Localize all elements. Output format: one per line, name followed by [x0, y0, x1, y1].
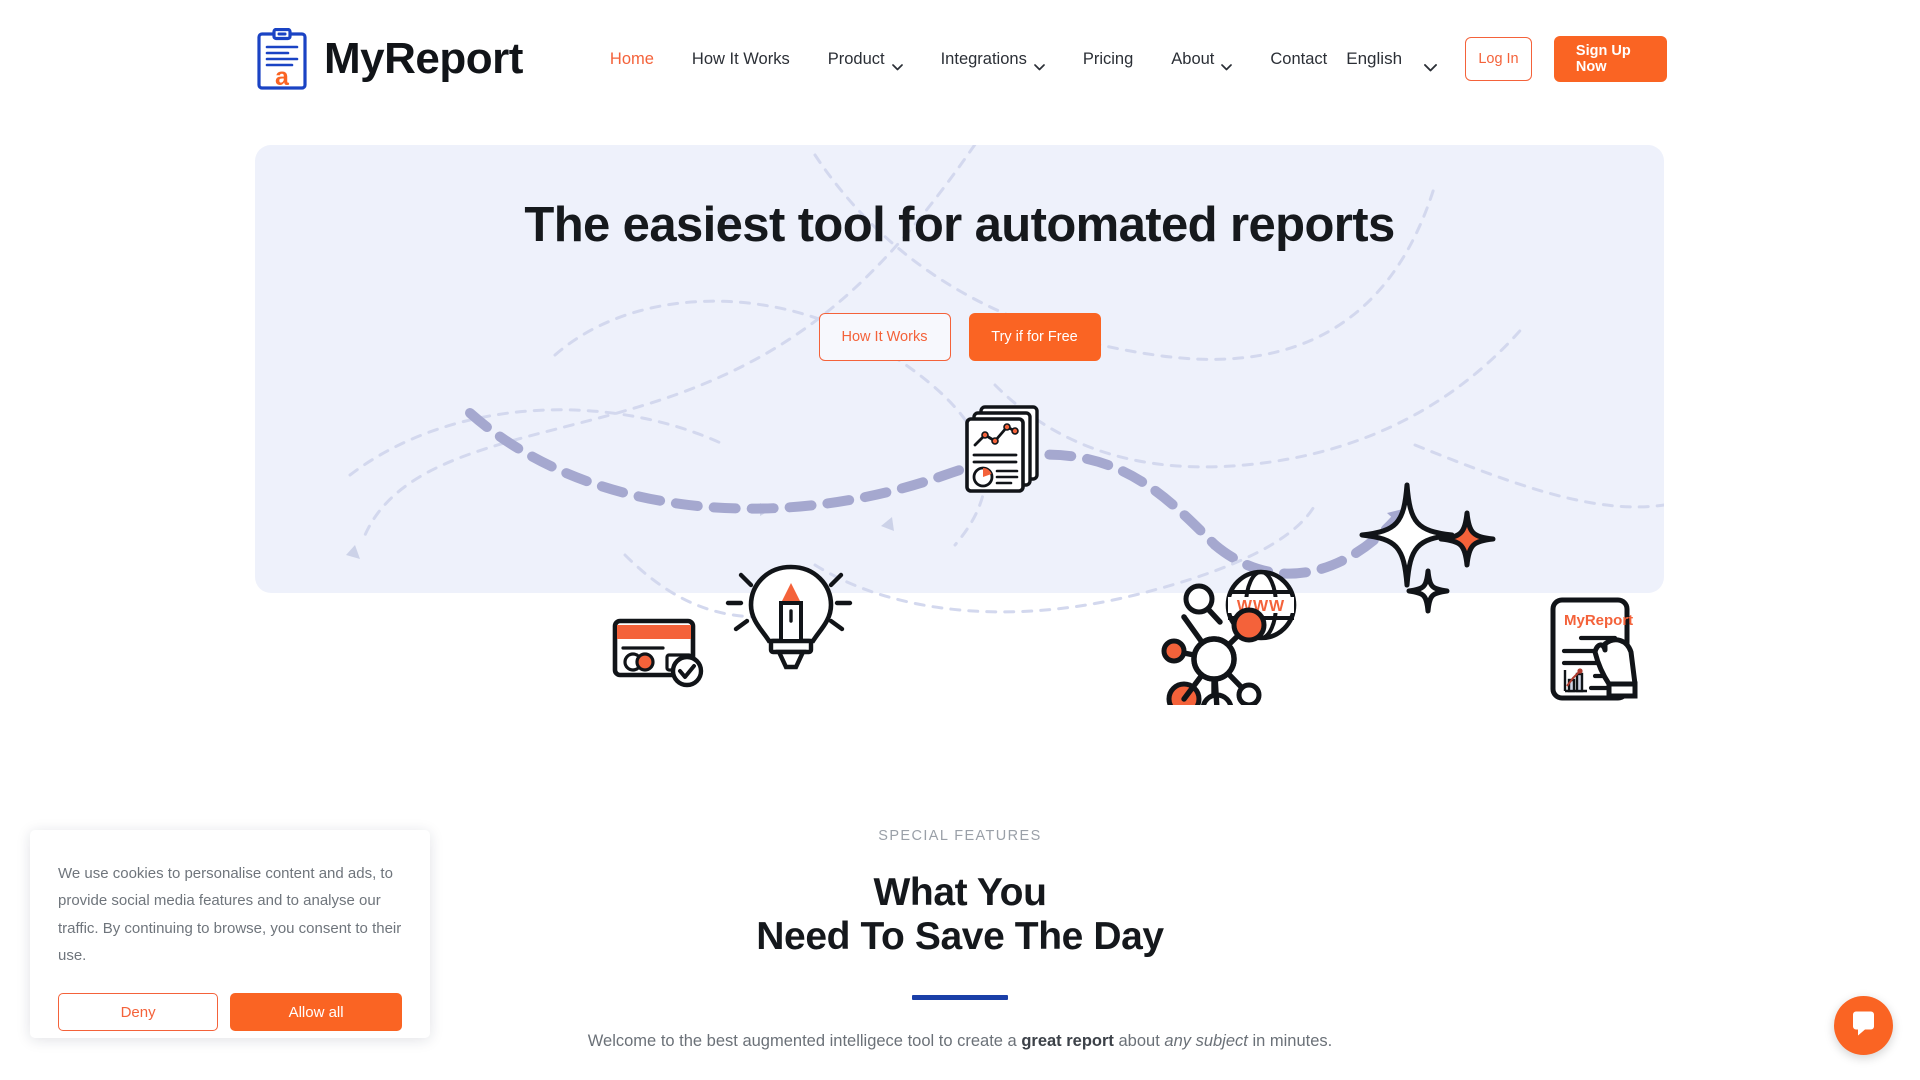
login-button[interactable]: Log In [1465, 37, 1532, 81]
nav-item-about[interactable]: About [1152, 50, 1251, 69]
nav-label-pricing: Pricing [1083, 50, 1133, 69]
nav-label-contact: Contact [1270, 50, 1327, 69]
main-navigation: Home How It Works Product Integrations P… [591, 50, 1346, 69]
chevron-down-icon [892, 57, 903, 64]
features-subtitle-prefix: Welcome to the best augmented intelligec… [588, 1032, 1022, 1050]
language-selected-label: English [1346, 49, 1402, 69]
header-actions: English Log In Sign Up Now [1346, 36, 1667, 82]
chat-bubble-icon [1850, 1010, 1877, 1042]
nav-item-home[interactable]: Home [591, 50, 673, 69]
nav-label-integrations: Integrations [941, 50, 1027, 69]
brand-logo[interactable]: a MyReport [254, 28, 523, 90]
nav-label-product: Product [828, 50, 885, 69]
svg-text:a: a [275, 63, 290, 90]
cookie-deny-button[interactable]: Deny [58, 993, 218, 1031]
cookie-allow-all-label: Allow all [289, 1004, 344, 1021]
nav-item-contact[interactable]: Contact [1251, 50, 1346, 69]
nav-label-about: About [1171, 50, 1214, 69]
clipboard-report-icon: a [254, 28, 310, 90]
hero-title: The easiest tool for automated reports [255, 197, 1664, 253]
features-subtitle-suffix: in minutes. [1248, 1032, 1332, 1050]
chevron-down-icon [1034, 57, 1045, 64]
features-subtitle-italic: any subject [1164, 1032, 1247, 1050]
nav-item-integrations[interactable]: Integrations [922, 50, 1064, 69]
chevron-down-icon [1221, 57, 1232, 64]
features-subtitle-mid: about [1114, 1032, 1164, 1050]
cookie-consent-actions: Deny Allow all [58, 993, 402, 1031]
nav-label-home: Home [610, 50, 654, 69]
chat-widget-button[interactable] [1834, 996, 1893, 1055]
chevron-down-icon [1424, 57, 1435, 64]
cookie-deny-label: Deny [121, 1004, 156, 1021]
cookie-consent-banner: We use cookies to personalise content an… [30, 830, 430, 1038]
svg-text:WWW: WWW [1237, 598, 1285, 615]
cookie-consent-message: We use cookies to personalise content an… [58, 860, 402, 969]
login-button-label: Log In [1478, 51, 1518, 67]
nav-item-product[interactable]: Product [809, 50, 922, 69]
hero-cta-group: How It Works Try if for Free [255, 313, 1664, 361]
section-divider [912, 995, 1008, 1000]
try-for-free-button[interactable]: Try if for Free [969, 313, 1101, 361]
try-for-free-button-label: Try if for Free [991, 329, 1077, 345]
hero-panel: The easiest tool for automated reports H… [255, 145, 1664, 593]
svg-text:MyReport: MyReport [1564, 612, 1633, 629]
myreport-document-hand-icon: MyReport [1553, 600, 1635, 698]
how-it-works-button[interactable]: How It Works [819, 313, 951, 361]
cookie-allow-all-button[interactable]: Allow all [230, 993, 402, 1031]
network-nodes-icon [1164, 610, 1264, 705]
site-header: a MyReport Home How It Works Product Int… [0, 0, 1920, 118]
nav-item-pricing[interactable]: Pricing [1064, 50, 1152, 69]
signup-button-label: Sign Up Now [1576, 43, 1645, 75]
nav-label-how-it-works: How It Works [692, 50, 790, 69]
brand-name: MyReport [324, 37, 523, 81]
signup-button[interactable]: Sign Up Now [1554, 36, 1667, 82]
features-subtitle-bold: great report [1021, 1032, 1114, 1050]
language-selector[interactable]: English [1346, 49, 1435, 69]
nav-item-how-it-works[interactable]: How It Works [673, 50, 809, 69]
credit-card-check-icon [615, 621, 701, 685]
landing-page: a MyReport Home How It Works Product Int… [0, 0, 1920, 1080]
how-it-works-button-label: How It Works [842, 329, 928, 345]
